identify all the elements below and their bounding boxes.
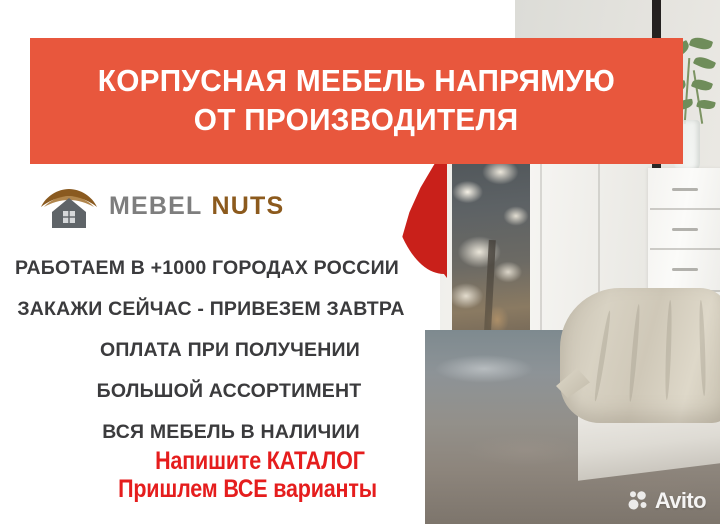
- headline-line-1: КОРПУСНАЯ МЕБЕЛЬ НАПРЯМУЮ: [98, 64, 615, 99]
- drawer-divider: [650, 208, 720, 210]
- bed-duvet: [560, 288, 720, 423]
- feature-item: ОПЛАТА ПРИ ПОЛУЧЕНИИ: [13, 330, 447, 371]
- cta-line-1: Напишите КАТАЛОГ: [155, 447, 365, 475]
- brand-logo: MEBELNUTS: [38, 183, 284, 229]
- logo-word-nuts: NUTS: [212, 192, 285, 220]
- house-roof-icon: [38, 183, 100, 229]
- drawer-handle: [672, 188, 698, 191]
- feature-item: РАБОТАЕМ В +1000 ГОРОДАХ РОССИИ: [0, 248, 424, 289]
- logo-wordmark: MEBELNUTS: [109, 192, 284, 221]
- call-to-action: Напишите КАТАЛОГ Пришлем ВСЕ варианты: [0, 447, 434, 503]
- cta-line-2: Пришлем ВСЕ варианты: [118, 475, 377, 503]
- logo-word-mebel: MEBEL: [109, 192, 203, 220]
- advertisement-image: КОРПУСНАЯ МЕБЕЛЬ НАПРЯМУЮ ОТ ПРОИЗВОДИТЕ…: [0, 0, 720, 524]
- headline-line-2: ОТ ПРОИЗВОДИТЕЛЯ: [194, 103, 519, 138]
- drawer-divider: [650, 248, 720, 250]
- feature-item: БОЛЬШОЙ АССОРТИМЕНТ: [12, 371, 446, 412]
- drawer-handle: [672, 228, 698, 231]
- drawer-handle: [672, 268, 698, 271]
- headline-banner: КОРПУСНАЯ МЕБЕЛЬ НАПРЯМУЮ ОТ ПРОИЗВОДИТЕ…: [30, 38, 683, 164]
- feature-list: РАБОТАЕМ В +1000 ГОРОДАХ РОССИИ ЗАКАЖИ С…: [0, 248, 434, 453]
- feature-item: ЗАКАЖИ СЕЙЧАС - ПРИВЕЗЕМ ЗАВТРА: [0, 289, 428, 330]
- avito-watermark: Avito: [628, 490, 706, 512]
- avito-wordmark: Avito: [655, 490, 706, 512]
- avito-dots-icon: [628, 490, 650, 512]
